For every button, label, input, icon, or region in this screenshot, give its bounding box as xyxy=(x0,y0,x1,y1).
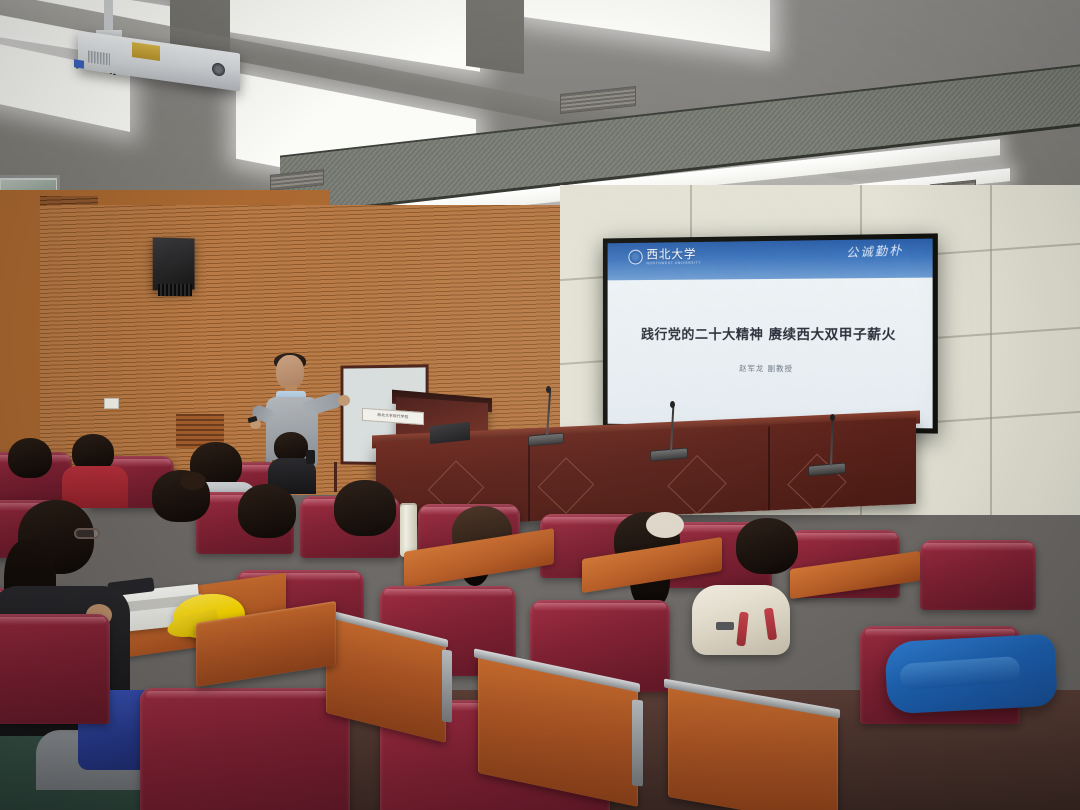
projector-assembly xyxy=(0,0,280,110)
phone-icon[interactable] xyxy=(306,450,315,464)
eyeglasses-icon xyxy=(74,528,100,539)
lecturer-right-arm xyxy=(300,391,345,418)
slide-presenter-name: 赵军龙 副教授 xyxy=(608,362,933,375)
wall-light-switch[interactable] xyxy=(104,398,119,409)
university-name-cn: 西北大学 xyxy=(646,248,701,261)
microphone-head-icon xyxy=(670,401,675,408)
ceiling-air-vent xyxy=(560,86,636,114)
student-head xyxy=(334,480,396,536)
seat-back[interactable] xyxy=(0,614,110,724)
projector-connector xyxy=(74,59,84,68)
lecture-hall-photo: 西北大学 NORTHWEST UNIVERSITY 公诚勤朴 践行党的二十大精神… xyxy=(0,0,1080,810)
university-name-en: NORTHWEST UNIVERSITY xyxy=(646,261,701,266)
university-logo: 西北大学 NORTHWEST UNIVERSITY xyxy=(628,248,701,266)
speaker-grille-icon xyxy=(158,284,192,296)
wall-speaker xyxy=(153,238,195,291)
lecturer-head xyxy=(276,355,304,389)
desk-hinge xyxy=(442,649,452,722)
hair-scrunchie xyxy=(646,512,684,538)
student-head xyxy=(238,484,296,538)
ceiling-light-panel xyxy=(520,0,770,52)
slide-body: 践行党的二十大精神 赓续西大双甲子薪火 赵军龙 副教授 xyxy=(608,278,933,429)
projection-screen: 西北大学 NORTHWEST UNIVERSITY 公诚勤朴 践行党的二十大精神… xyxy=(603,233,938,433)
university-seal-icon xyxy=(628,250,642,265)
desk-hinge xyxy=(632,700,643,787)
microphone-head-icon xyxy=(830,414,835,421)
lecturer-right-hand xyxy=(338,395,350,406)
projection-screen-surface: 西北大学 NORTHWEST UNIVERSITY 公诚勤朴 践行党的二十大精神… xyxy=(608,239,933,429)
student-hair-bun xyxy=(180,472,206,490)
microphone-head-icon xyxy=(546,386,551,393)
slide-header-band: 西北大学 NORTHWEST UNIVERSITY 公诚勤朴 xyxy=(608,239,933,281)
ceiling-beam xyxy=(466,0,524,74)
slide-motto-watermark: 公诚勤朴 xyxy=(846,241,904,261)
seat-back[interactable] xyxy=(140,688,350,810)
slide-title: 践行党的二十大精神 赓续西大双甲子薪火 xyxy=(608,323,933,344)
